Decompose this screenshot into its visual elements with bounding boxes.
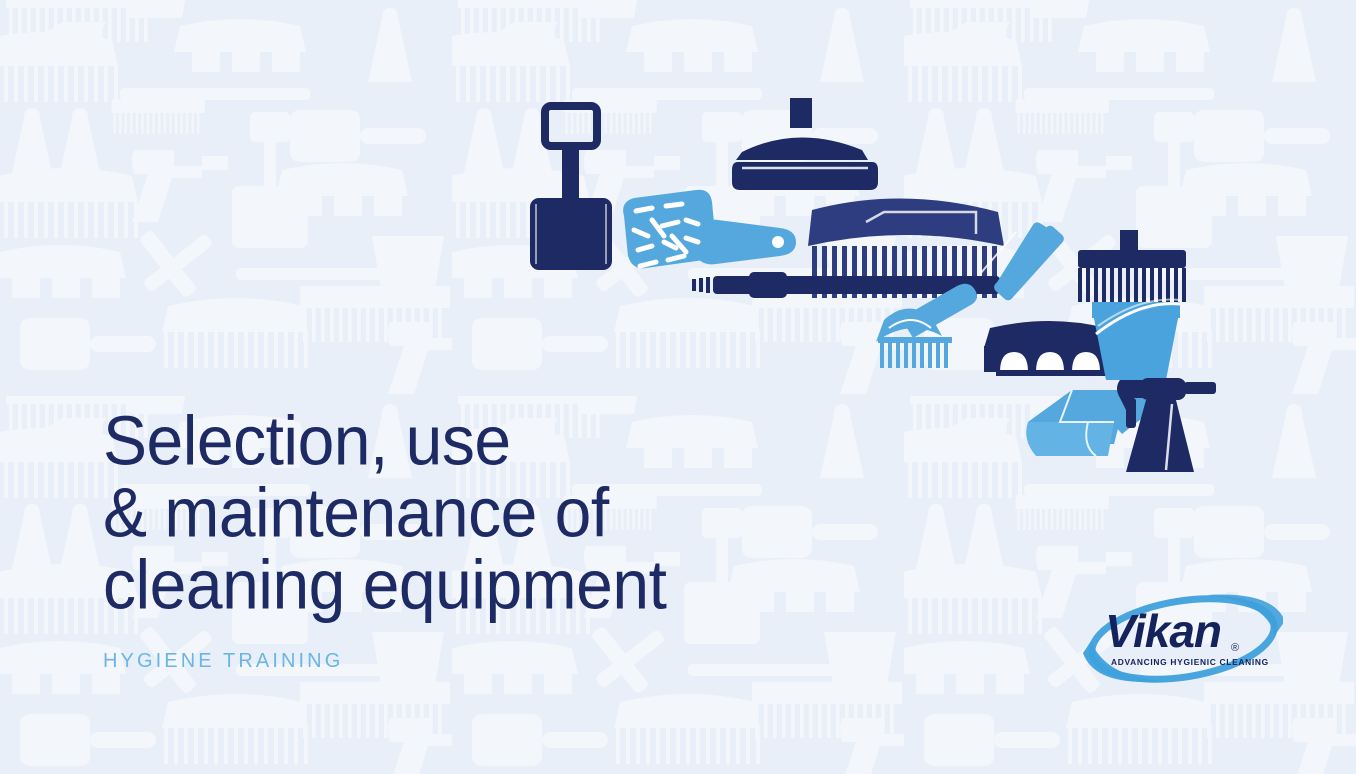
subtitle-label: HYGIENE TRAINING [103, 650, 823, 673]
squeegee-icon [732, 98, 878, 190]
logo-tagline: ADVANCING HYGIENIC CLEANING [1111, 657, 1269, 667]
svg-text:®: ® [1231, 642, 1239, 654]
page-title: Selection, use & maintenance of cleaning… [103, 404, 823, 620]
bucket-icon [1092, 300, 1180, 380]
slide-canvas: Selection, use & maintenance of cleaning… [0, 0, 1356, 774]
pad-holder-icon [623, 190, 796, 269]
shovel-icon [530, 106, 612, 270]
spray-bottle-icon [1117, 378, 1216, 472]
title-block: Selection, use & maintenance of cleaning… [103, 404, 823, 673]
svg-text:Vikan: Vikan [1105, 605, 1221, 657]
mop-holder-icon [984, 321, 1112, 376]
logo-wordmark: Vikan ® [1105, 605, 1239, 657]
broom-icon [1078, 230, 1186, 302]
vikan-logo: Vikan ® ADVANCING HYGIENIC CLEANING [1083, 583, 1283, 695]
